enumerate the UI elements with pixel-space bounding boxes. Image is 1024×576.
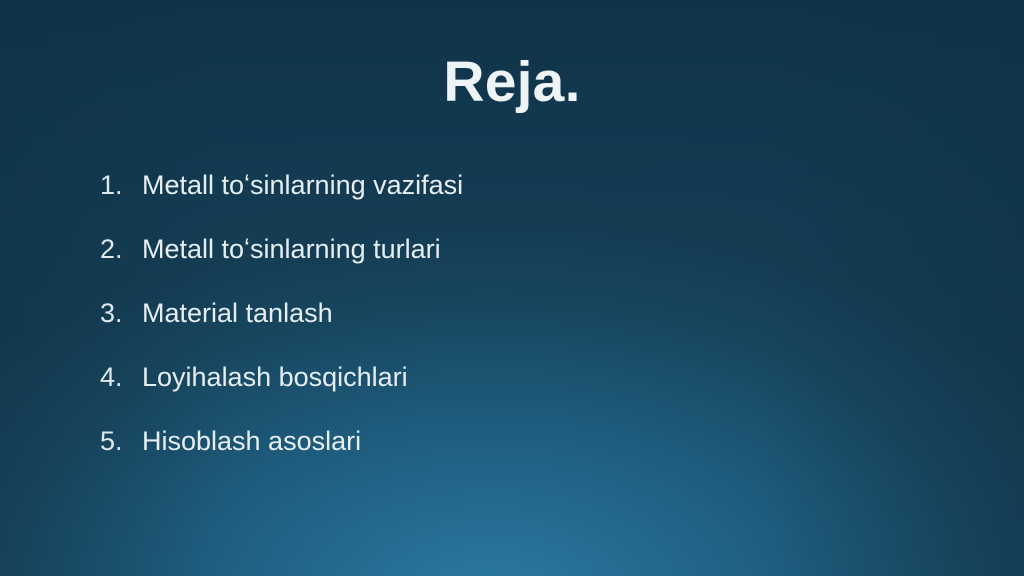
list-item-label: Metall toʻsinlarning turlari <box>142 236 441 263</box>
list-item-label: Metall toʻsinlarning vazifasi <box>142 172 463 199</box>
list-item-label: Material tanlash <box>142 300 333 327</box>
list-item-label: Loyihalash bosqichlari <box>142 364 408 391</box>
list-item-number: 5. <box>100 428 142 455</box>
list-item: 3. Material tanlash <box>100 300 920 364</box>
agenda-list: 1. Metall toʻsinlarning vazifasi 2. Meta… <box>100 172 920 492</box>
list-item: 5. Hisoblash asoslari <box>100 428 920 492</box>
list-item-number: 3. <box>100 300 142 327</box>
list-item-number: 1. <box>100 172 142 199</box>
list-item-number: 2. <box>100 236 142 263</box>
list-item: 4. Loyihalash bosqichlari <box>100 364 920 428</box>
slide-content: Reja. 1. Metall toʻsinlarning vazifasi 2… <box>0 0 1024 576</box>
list-item-label: Hisoblash asoslari <box>142 428 361 455</box>
list-item: 1. Metall toʻsinlarning vazifasi <box>100 172 920 236</box>
list-item: 2. Metall toʻsinlarning turlari <box>100 236 920 300</box>
list-item-number: 4. <box>100 364 142 391</box>
page-title: Reja. <box>0 52 1024 114</box>
presentation-slide: Reja. 1. Metall toʻsinlarning vazifasi 2… <box>0 0 1024 576</box>
